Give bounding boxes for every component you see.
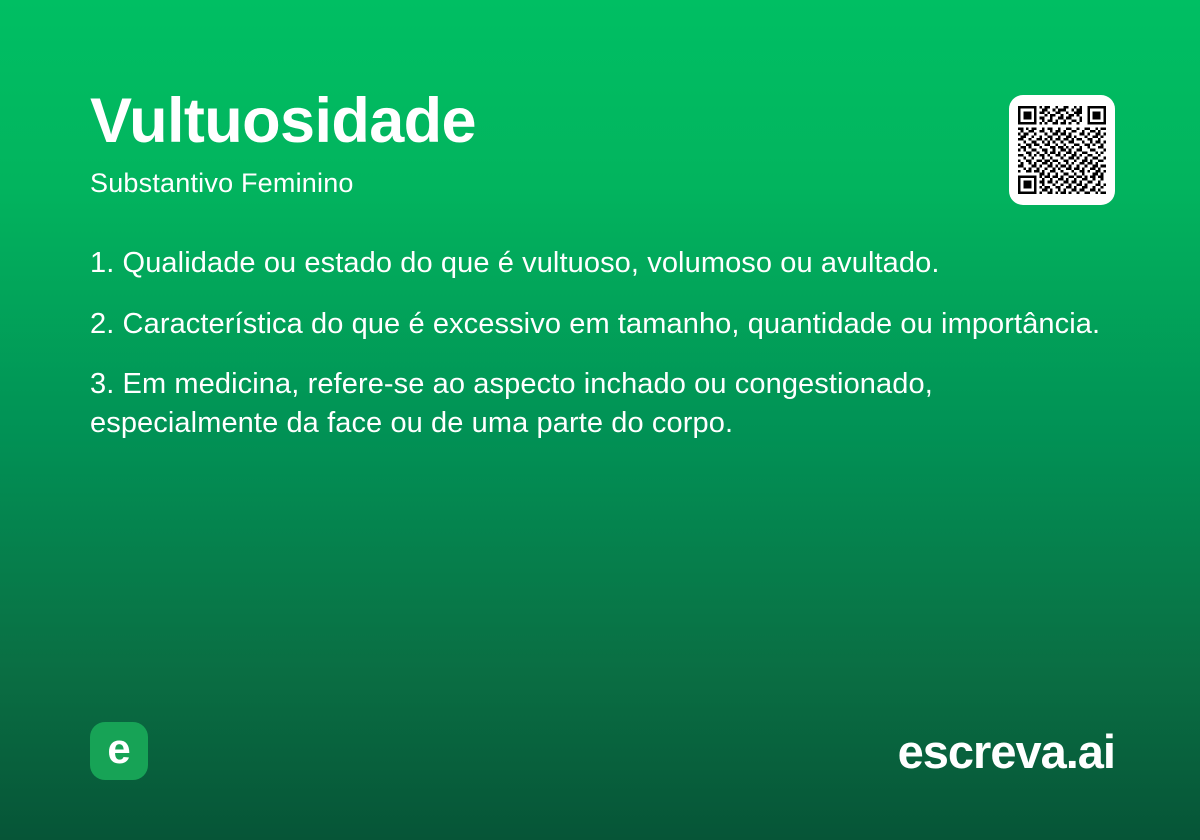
definition-item: 3. Em medicina, refere-se ao aspecto inc… [90, 365, 1110, 442]
qr-code-card[interactable] [1009, 95, 1115, 205]
definition-item: 1. Qualidade ou estado do que é vultuoso… [90, 244, 1110, 283]
escreva-logo-icon[interactable]: e [90, 722, 148, 780]
word-class-label: Substantivo Feminino [90, 168, 1110, 199]
dictionary-card: Vultuosidade Substantivo Feminino 1. Qua… [0, 0, 1200, 840]
qr-code-icon [1018, 106, 1106, 194]
definition-item: 2. Característica do que é excessivo em … [90, 305, 1110, 344]
footer: e escreva.ai [90, 722, 1115, 780]
brand-wordmark: escreva.ai [898, 724, 1115, 779]
definition-list: 1. Qualidade ou estado do que é vultuoso… [90, 244, 1110, 442]
page-title: Vultuosidade [90, 88, 1110, 154]
